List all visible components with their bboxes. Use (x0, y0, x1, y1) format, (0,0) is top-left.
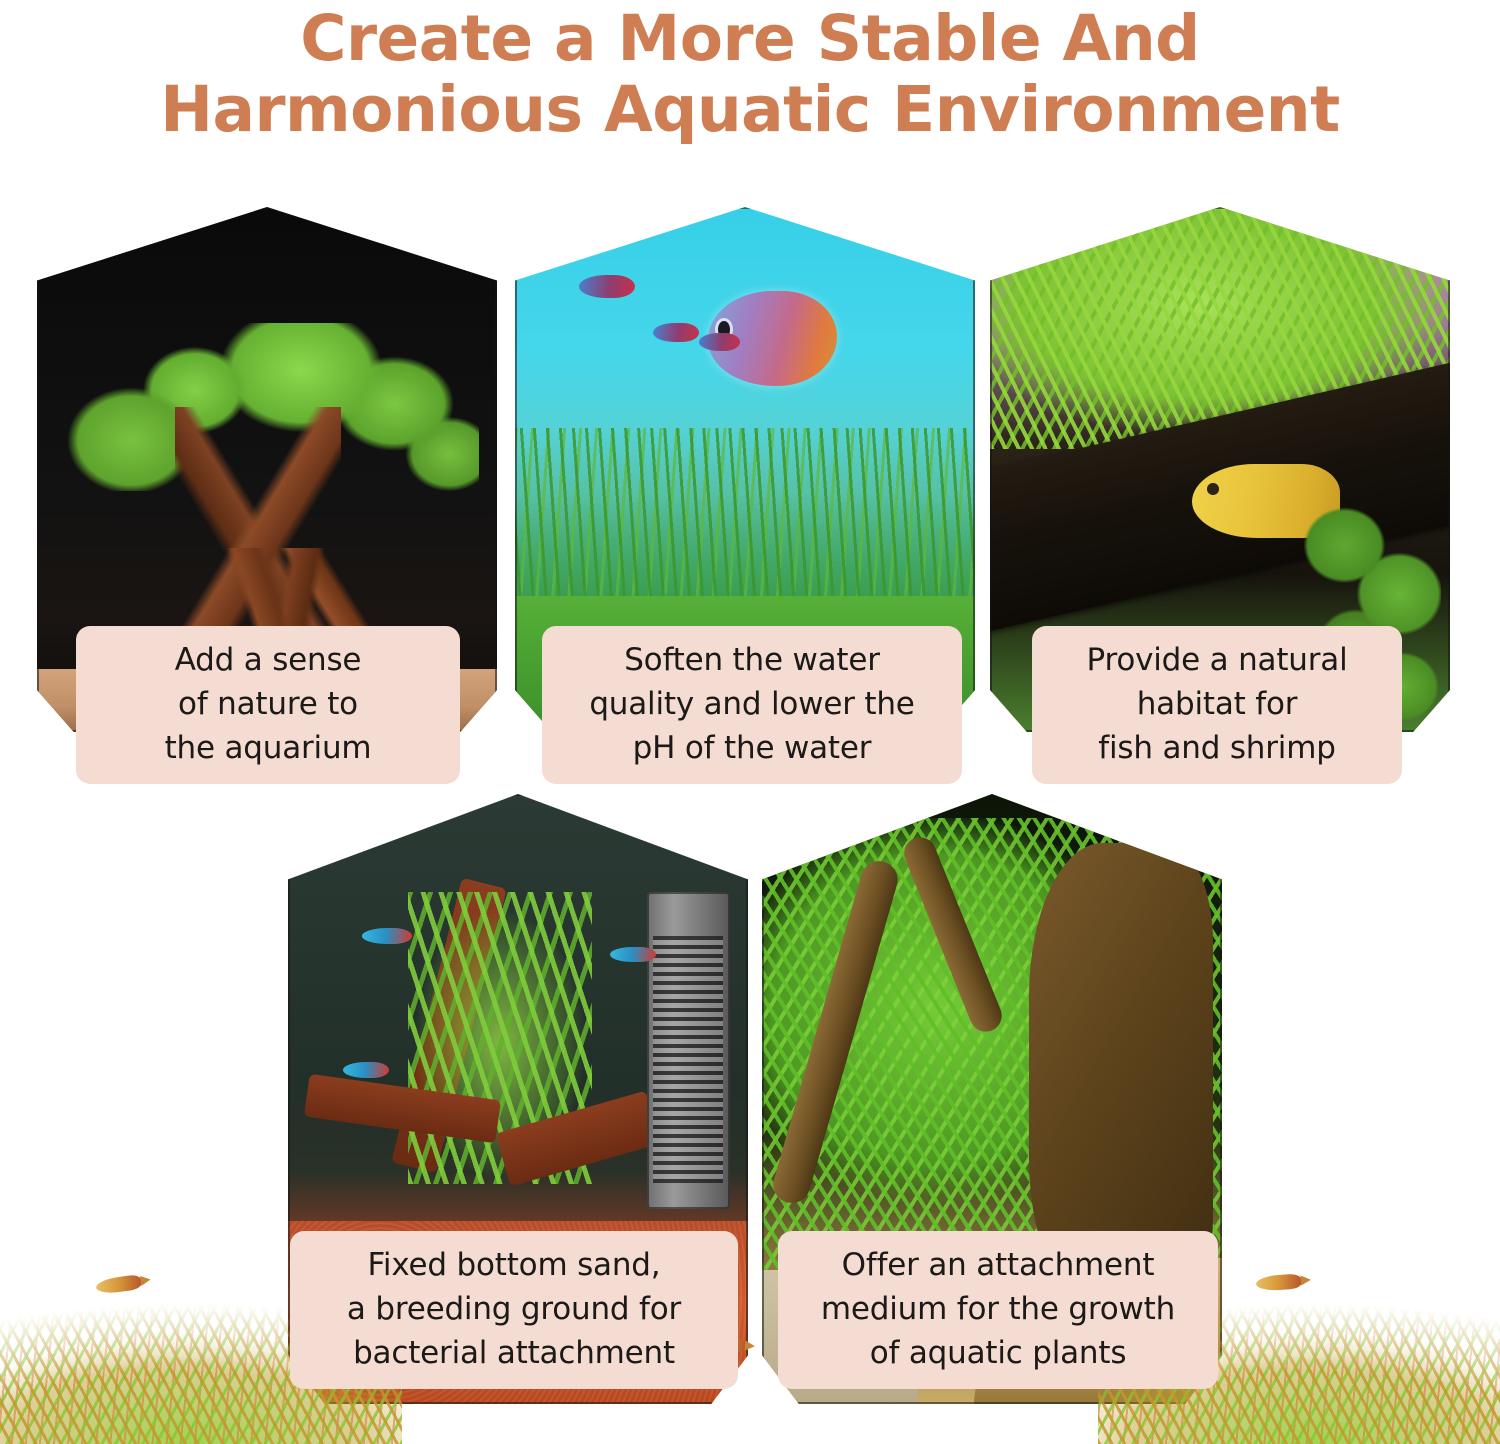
neon-tetra-shape (362, 928, 413, 944)
caption-line: pH of the water (558, 726, 946, 770)
caption-line: quality and lower the (558, 682, 946, 726)
caption-line: bacterial attachment (306, 1331, 722, 1375)
tetra-fish-shape (579, 275, 634, 298)
feature-caption-attachment-medium: Offer an attachment medium for the growt… (778, 1231, 1218, 1389)
caption-line: the aquarium (92, 726, 444, 770)
tetra-fish-shape (653, 323, 699, 343)
caption-line: fish and shrimp (1048, 726, 1386, 770)
feature-card-grid: Add a sense of nature to the aquarium So… (0, 196, 1500, 1444)
caption-line: habitat for (1048, 682, 1386, 726)
caption-line: of aquatic plants (794, 1331, 1202, 1375)
aquarium-filter-shape (647, 892, 730, 1209)
neon-tetra-shape (343, 1062, 389, 1078)
feature-caption-bottom-sand: Fixed bottom sand, a breeding ground for… (290, 1231, 738, 1389)
caption-line: Add a sense (92, 638, 444, 682)
caption-line: Soften the water (558, 638, 946, 682)
driftwood-stump-shape (1029, 843, 1213, 1294)
caption-line: medium for the growth (794, 1287, 1202, 1331)
caption-line: a breeding ground for (306, 1287, 722, 1331)
neon-tetra-shape (610, 947, 656, 963)
feature-caption-habitat: Provide a natural habitat for fish and s… (1032, 626, 1402, 784)
caption-line: Offer an attachment (794, 1243, 1202, 1287)
caption-line: Provide a natural (1048, 638, 1386, 682)
page-title-line-2: Harmonious Aquatic Environment (40, 75, 1460, 146)
feature-caption-water-quality: Soften the water quality and lower the p… (542, 626, 962, 784)
tetra-fish-shape (699, 333, 740, 351)
caption-line: Fixed bottom sand, (306, 1243, 722, 1287)
page-title-line-1: Create a More Stable And (300, 2, 1200, 75)
caption-line: of nature to (92, 682, 444, 726)
page-title: Create a More Stable And Harmonious Aqua… (40, 0, 1460, 145)
feature-caption-bonsai: Add a sense of nature to the aquarium (76, 626, 460, 784)
